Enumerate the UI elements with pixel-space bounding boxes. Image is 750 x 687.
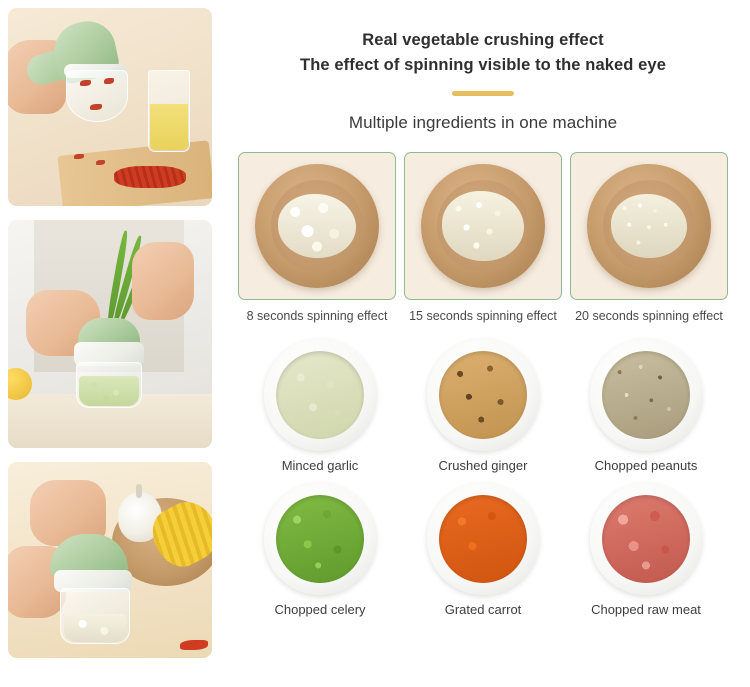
bowl-label-grated-carrot: Grated carrot [445, 602, 522, 617]
bowl [590, 339, 702, 451]
caption-8s: 8 seconds spinning effect [238, 309, 396, 323]
garlic-heap-fine [611, 194, 687, 258]
caption-20s: 20 seconds spinning effect [570, 309, 728, 323]
spinning-effect-panels [234, 152, 732, 300]
spinning-panel-captions: 8 seconds spinning effect 15 seconds spi… [234, 309, 732, 323]
minced-garlic-in-bowl [64, 614, 126, 642]
subheading: Multiple ingredients in one machine [234, 113, 732, 133]
bowl-row-2: Chopped celery Grated carrot Chopped raw… [240, 483, 726, 617]
garlic-stem [136, 484, 142, 498]
bowl-label-chopped-celery: Chopped celery [274, 602, 365, 617]
ingredient-bowls-grid: Minced garlic Crushed ginger Chopped pea… [234, 339, 732, 617]
chili-chopping-photo [8, 8, 212, 206]
bowl [427, 483, 539, 595]
product-infographic: Real vegetable crushing effect The effec… [0, 0, 750, 687]
product-photo-column [0, 0, 222, 687]
chopped-raw-meat-contents [602, 495, 690, 583]
chili-piece [80, 80, 91, 86]
minced-garlic-contents [276, 351, 364, 439]
garlic-corn-photo [8, 462, 212, 658]
bowl-cell-chopped-peanuts: Chopped peanuts [566, 339, 726, 473]
chili-piece [96, 160, 105, 165]
bowl [427, 339, 539, 451]
bowl-cell-chopped-raw-meat: Chopped raw meat [566, 483, 726, 617]
bowl-label-crushed-ginger: Crushed ginger [439, 458, 528, 473]
chili-piece [74, 154, 84, 159]
bowl-label-chopped-peanuts: Chopped peanuts [595, 458, 698, 473]
bowl-label-minced-garlic: Minced garlic [282, 458, 359, 473]
grated-carrot-contents [439, 495, 527, 583]
gold-divider [452, 91, 514, 96]
chopped-peanuts-contents [602, 351, 690, 439]
caption-15s: 15 seconds spinning effect [404, 309, 562, 323]
chopped-green-onion [79, 376, 139, 406]
garlic-heap-coarse [278, 194, 356, 258]
chili-piece [104, 78, 114, 84]
bowl-cell-grated-carrot: Grated carrot [403, 483, 563, 617]
spinning-panel-20s [570, 152, 728, 300]
chopper-clear-bowl [66, 70, 128, 122]
chili-piece [180, 640, 208, 650]
crushed-ginger-contents [439, 351, 527, 439]
content-column: Real vegetable crushing effect The effec… [222, 0, 750, 687]
headline-line-2: The effect of spinning visible to the na… [234, 53, 732, 78]
chopped-celery-contents [276, 495, 364, 583]
oil-liquid [150, 104, 188, 150]
chili-pile [114, 166, 186, 188]
spinning-panel-15s [404, 152, 562, 300]
green-onion-chopping-photo [8, 220, 212, 448]
bowl-cell-crushed-ginger: Crushed ginger [403, 339, 563, 473]
headline-line-1: Real vegetable crushing effect [234, 28, 732, 53]
bowl-cell-chopped-celery: Chopped celery [240, 483, 400, 617]
bowl [590, 483, 702, 595]
headline-block: Real vegetable crushing effect The effec… [234, 28, 732, 78]
bowl-label-chopped-raw-meat: Chopped raw meat [591, 602, 701, 617]
bowl [264, 483, 376, 595]
garlic-heap-medium [442, 191, 524, 261]
hand-right [132, 242, 194, 320]
chili-piece [90, 104, 102, 110]
bowl [264, 339, 376, 451]
bowl-cell-minced-garlic: Minced garlic [240, 339, 400, 473]
spinning-panel-8s [238, 152, 396, 300]
bowl-row-1: Minced garlic Crushed ginger Chopped pea… [240, 339, 726, 473]
